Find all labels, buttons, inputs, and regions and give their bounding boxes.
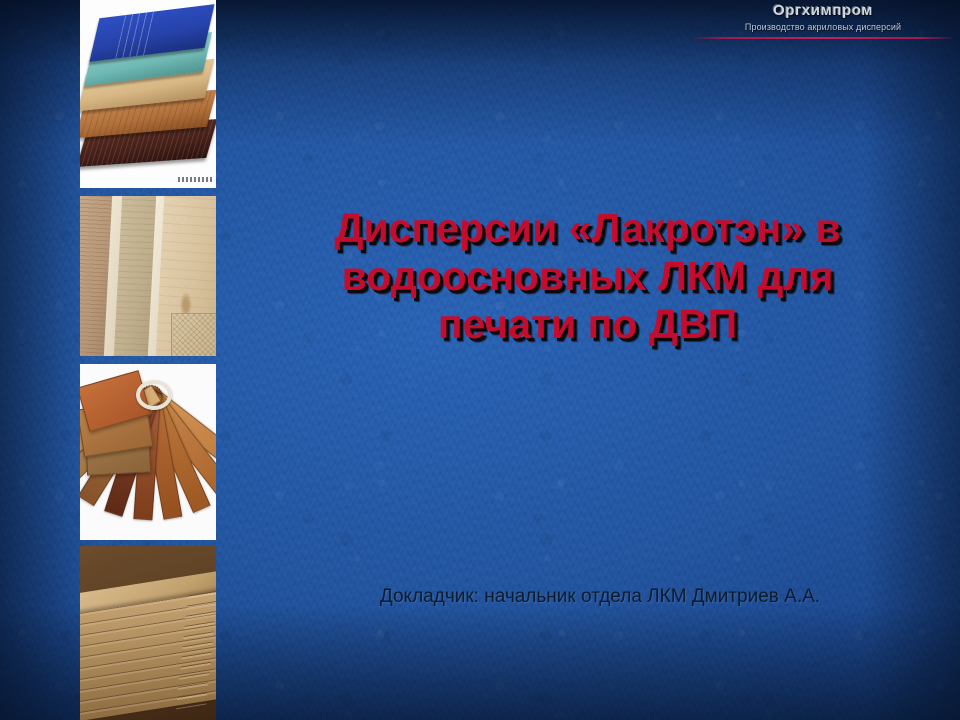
slide-title: Дисперсии «Лакротэн» в водоосновных ЛКМ … [255, 204, 920, 348]
photo-color-fan [80, 364, 216, 540]
slide-title-line-1: Дисперсии «Лакротэн» в [255, 204, 920, 252]
header-divider-rule [694, 37, 952, 39]
photo-strip [80, 0, 216, 720]
company-name: Оргхимпром [694, 2, 952, 19]
photo-watermark [178, 177, 212, 182]
slide-title-line-3: печати по ДВП [255, 300, 920, 348]
presentation-slide: Оргхимпром Производство акриловых диспер… [0, 0, 960, 720]
header-logo-block: Оргхимпром Производство акриловых диспер… [694, 2, 952, 39]
fan-ring [136, 380, 172, 410]
photo-veneer-sheets [80, 196, 216, 356]
photo-laminate-boards [80, 0, 216, 188]
veneer-corner-panel [171, 313, 216, 356]
photo-fibreboard-stack [80, 546, 216, 720]
company-tagline: Производство акриловых дисперсий [694, 22, 952, 32]
slide-title-line-2: водоосновных ЛКМ для [255, 252, 920, 300]
presenter-line: Докладчик: начальник отдела ЛКМ Дмитриев… [255, 586, 945, 608]
